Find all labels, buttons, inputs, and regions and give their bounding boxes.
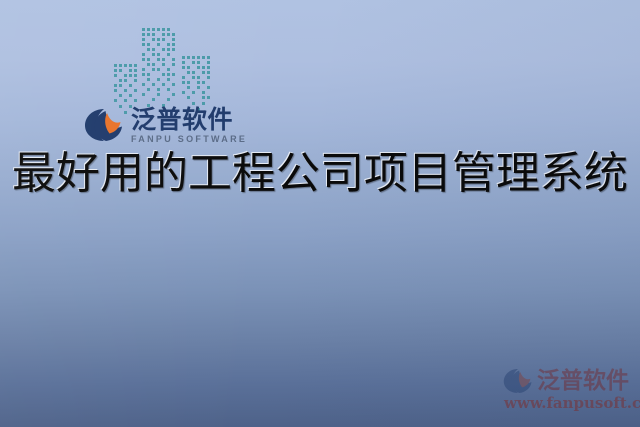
brand-name-en: FANPU SOFTWARE: [131, 134, 247, 145]
brand-logo: 泛普软件 FANPU SOFTWARE: [84, 108, 247, 145]
watermark-url: www.fanpusoft.com: [504, 395, 637, 412]
pixel-skyline-graphic: [112, 26, 220, 116]
watermark-logo-row: 泛普软件: [503, 368, 637, 394]
brand-logo-text: 泛普软件 FANPU SOFTWARE: [131, 107, 247, 145]
watermark: 泛普软件 www.fanpusoft.com: [503, 368, 637, 420]
brand-name-cn: 泛普软件: [131, 107, 247, 133]
headline-title: 最好用的工程公司项目管理系统: [0, 150, 640, 198]
fanpu-logo-mark-icon: [84, 108, 124, 142]
banner-canvas: 泛普软件 FANPU SOFTWARE 最好用的工程公司项目管理系统 泛普软件 …: [0, 0, 640, 427]
skyline-icon: [112, 26, 220, 116]
watermark-brand-cn: 泛普软件: [537, 369, 629, 394]
watermark-logo-mark-icon: [503, 368, 533, 394]
